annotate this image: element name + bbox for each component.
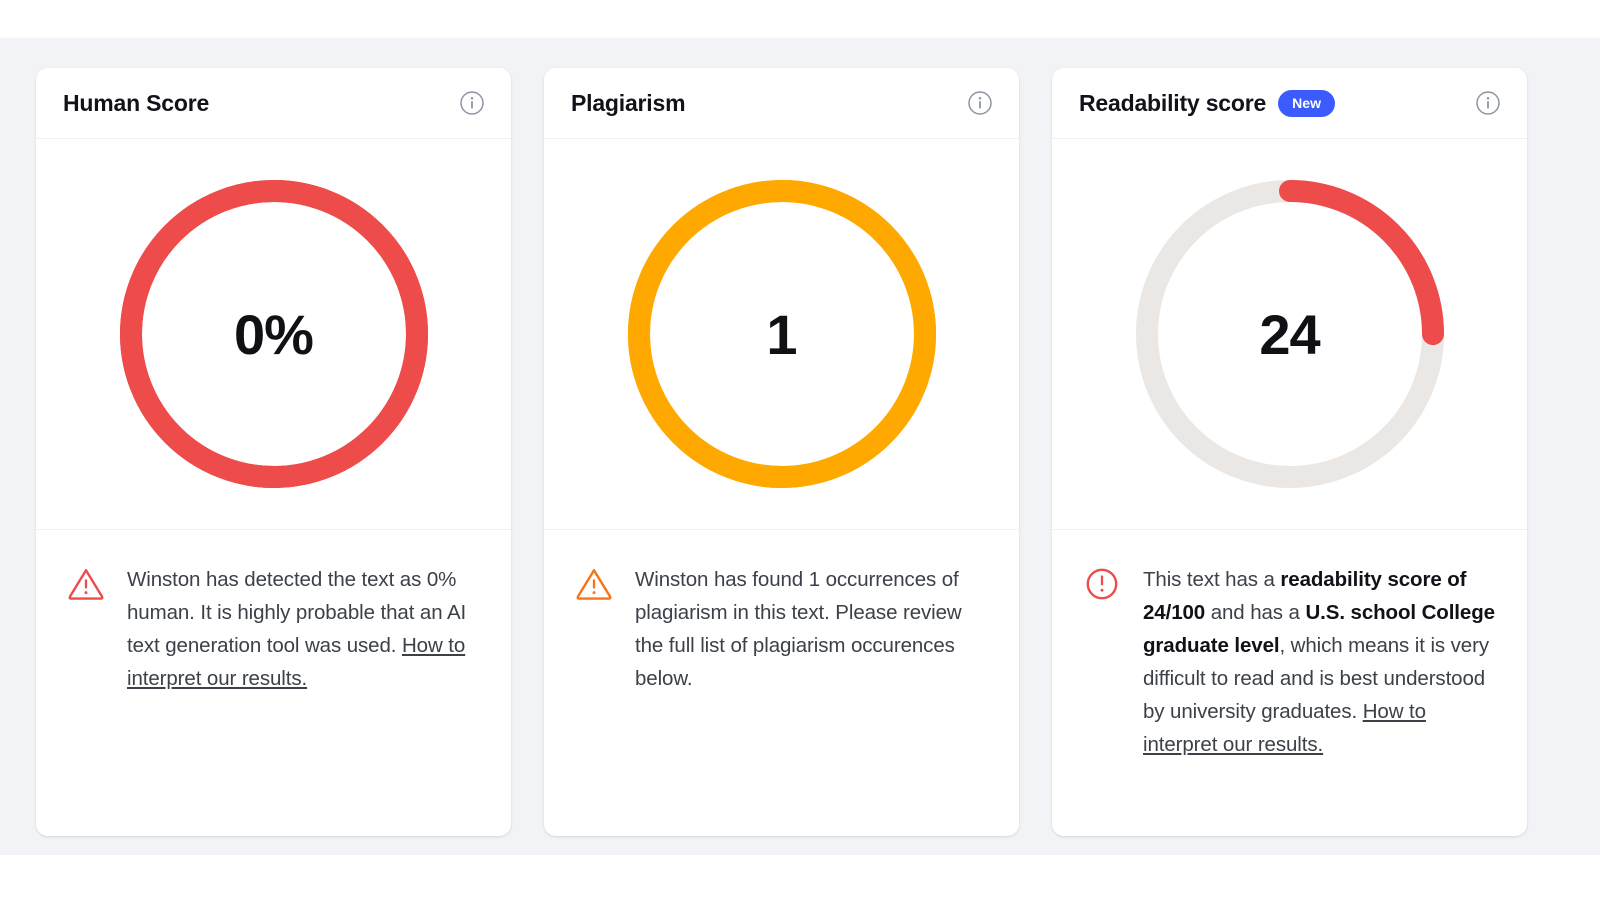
card-plagiarism: Plagiarism [544,68,1019,836]
card-title-wrap: Plagiarism [571,90,685,117]
card-header-plagiarism: Plagiarism [544,68,1019,139]
card-title-wrap: Human Score [63,90,209,117]
gauge-value-readability-score: 24 [1131,175,1449,493]
results-band: Human Score [0,38,1600,855]
card-footer-human-score: Winston has detected the text as 0% huma… [36,530,511,836]
donut-gauge-human-score: 0% [115,175,433,493]
gauge-area-readability-score: 24 [1052,139,1527,530]
status-message-plagiarism: Winston has found 1 occurrences of plagi… [635,563,989,695]
gauge-area-plagiarism: 1 [544,139,1019,530]
exclamation-circle-icon [1083,563,1121,603]
body-text: This text has a [1143,568,1280,591]
body-text: Winston has found 1 occurrences of plagi… [635,568,962,690]
card-footer-plagiarism: Winston has found 1 occurrences of plagi… [544,530,1019,836]
score-cards-row: Human Score [36,68,1527,836]
page-title: Readability score [1079,90,1266,117]
card-header-readability-score: Readability score New [1052,68,1527,139]
info-circle-icon[interactable] [967,90,993,116]
gauge-area-human-score: 0% [36,139,511,530]
status-message-readability-score: This text has a readability score of 24/… [1143,563,1497,761]
info-circle-icon[interactable] [459,90,485,116]
status-message-human-score: Winston has detected the text as 0% huma… [127,563,481,695]
info-circle-icon[interactable] [1475,90,1501,116]
status-badge: New [1278,90,1335,117]
card-footer-readability-score: This text has a readability score of 24/… [1052,530,1527,836]
donut-gauge-plagiarism: 1 [623,175,941,493]
card-header-human-score: Human Score [36,68,511,139]
donut-gauge-readability-score: 24 [1131,175,1449,493]
gauge-value-human-score: 0% [115,175,433,493]
warning-triangle-icon [575,563,613,603]
page-title: Human Score [63,90,209,117]
results-page: Human Score [0,0,1600,900]
warning-triangle-icon [67,563,105,603]
gauge-value-plagiarism: 1 [623,175,941,493]
body-text: and has a [1205,601,1305,624]
card-readability-score: Readability score New [1052,68,1527,836]
page-title: Plagiarism [571,90,685,117]
card-title-wrap: Readability score New [1079,90,1335,117]
card-human-score: Human Score [36,68,511,836]
